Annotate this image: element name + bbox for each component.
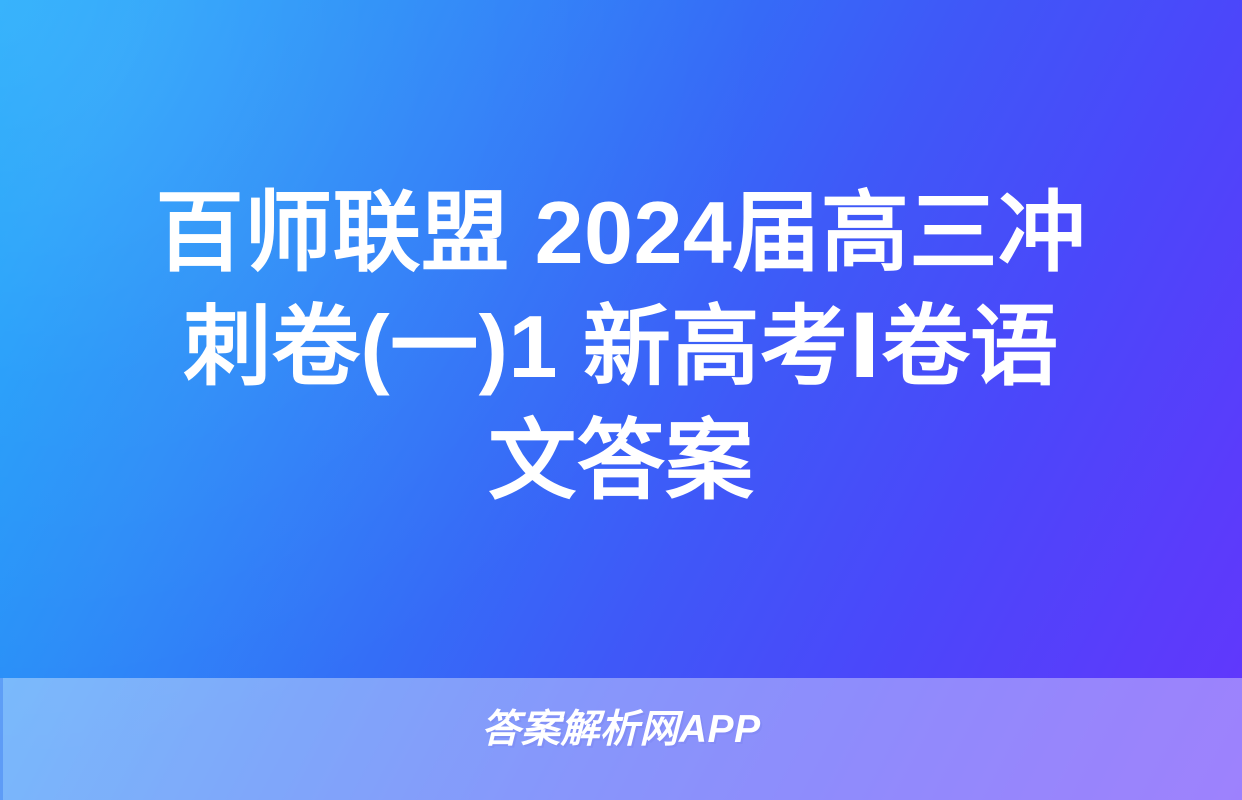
title-line-2: 刺卷(一)1 新高考Ⅰ卷语 [78,290,1164,404]
title-line-3: 文答案 [78,404,1164,518]
title-line-1: 百师联盟 2024届高三冲 [78,176,1164,290]
answer-poster: 百师联盟 2024届高三冲 刺卷(一)1 新高考Ⅰ卷语 文答案 答案解析网APP [0,0,1242,800]
watermark-container: 答案解析网APP [0,705,1242,755]
watermark-app-name: 答案解析网APP [481,705,760,755]
page-title: 百师联盟 2024届高三冲 刺卷(一)1 新高考Ⅰ卷语 文答案 [0,176,1242,518]
